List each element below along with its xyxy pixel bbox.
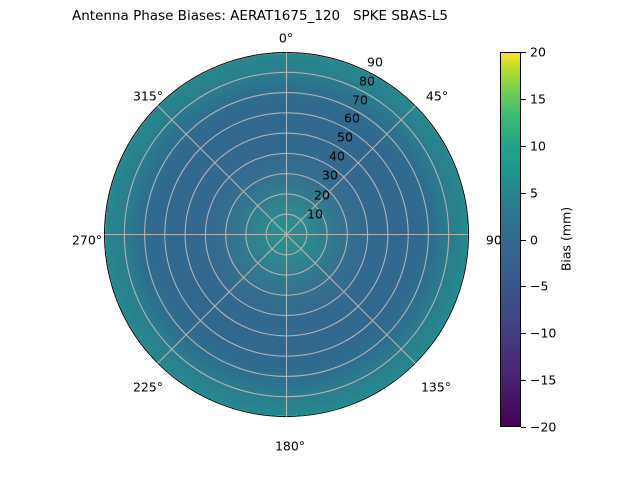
azimuth-label-180: 180°	[275, 439, 305, 454]
figure-canvas: Antenna Phase Biases: AERAT1675_120 SPKE…	[0, 0, 640, 480]
colorbar-ticklabel-10: 10	[530, 138, 546, 153]
azimuth-label-270: 270°	[72, 233, 102, 248]
colorbar-ticklabel-neg10: −10	[530, 326, 556, 341]
azimuth-label-0: 0°	[279, 31, 293, 46]
figure-title: Antenna Phase Biases: AERAT1675_120 SPKE…	[0, 8, 520, 24]
colorbar-ticklabel-15: 15	[530, 91, 546, 106]
colorbar-tick-neg10	[521, 333, 526, 334]
zenith-label-10: 10	[307, 207, 323, 222]
zenith-label-40: 40	[329, 149, 345, 164]
colorbar-tick-5	[521, 193, 526, 194]
colorbar[interactable]: 20 15 10 5 0 −5 −10 −15 −20	[500, 52, 521, 427]
azimuth-label-135: 135°	[421, 380, 451, 395]
zenith-label-60: 60	[344, 111, 360, 126]
zenith-label-20: 20	[314, 188, 330, 203]
colorbar-axis-label: Bias (mm)	[559, 207, 574, 271]
colorbar-ticklabel-0: 0	[530, 232, 538, 247]
zenith-label-70: 70	[352, 93, 368, 108]
colorbar-ticklabel-5: 5	[530, 185, 538, 200]
zenith-label-30: 30	[322, 168, 338, 183]
colorbar-tick-10	[521, 146, 526, 147]
polar-bias-field	[105, 53, 468, 416]
azimuth-label-225: 225°	[133, 380, 163, 395]
colorbar-ticklabel-neg5: −5	[530, 279, 548, 294]
azimuth-label-315: 315°	[133, 89, 163, 104]
zenith-label-80: 80	[359, 74, 375, 89]
polar-axes[interactable]	[104, 52, 469, 417]
zenith-label-90: 90	[367, 55, 383, 70]
colorbar-tick-15	[521, 99, 526, 100]
colorbar-gradient	[500, 52, 521, 427]
colorbar-ticklabel-neg20: −20	[530, 420, 556, 435]
colorbar-ticklabel-20: 20	[530, 45, 546, 60]
zenith-label-50: 50	[337, 130, 353, 145]
colorbar-tick-0	[521, 240, 526, 241]
polar-data-disc	[104, 52, 469, 417]
colorbar-tick-neg20	[521, 427, 526, 428]
azimuth-label-45: 45°	[426, 89, 448, 104]
colorbar-tick-neg5	[521, 286, 526, 287]
colorbar-tick-20	[521, 52, 526, 53]
colorbar-tick-neg15	[521, 380, 526, 381]
colorbar-ticklabel-neg15: −15	[530, 373, 556, 388]
